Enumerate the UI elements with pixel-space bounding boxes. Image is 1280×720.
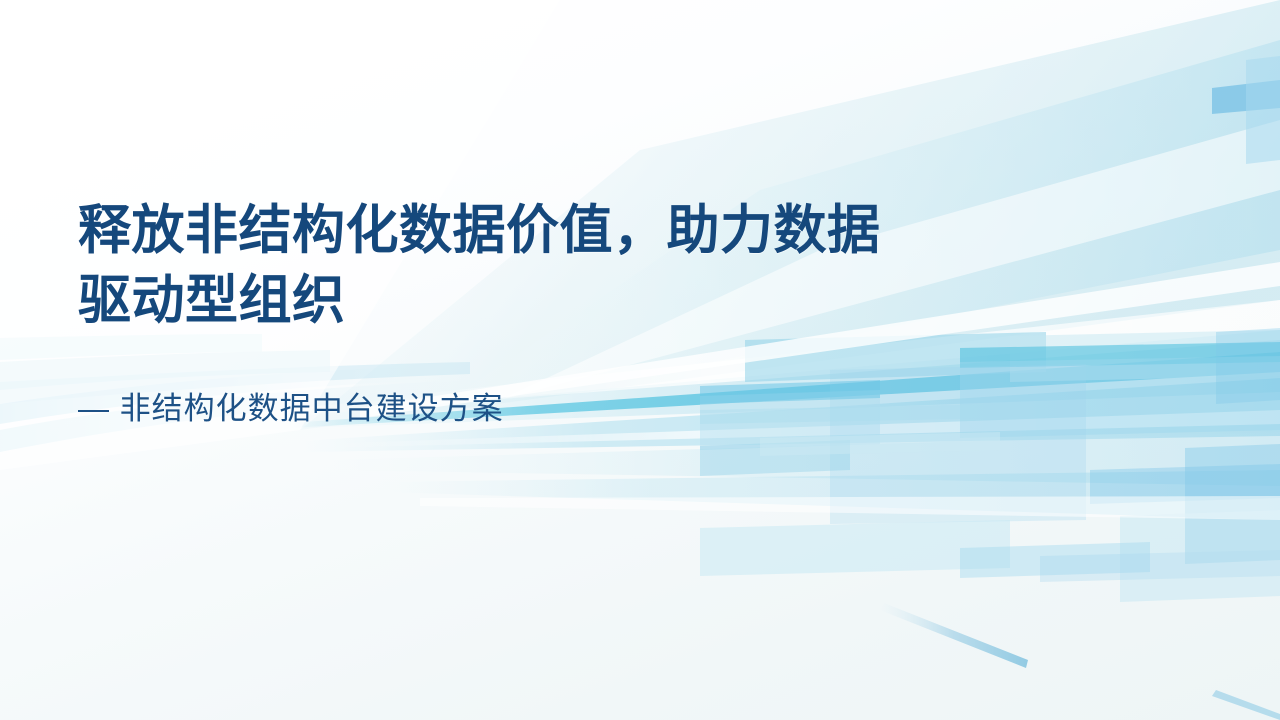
title-text-block: 释放非结构化数据价值，助力数据 驱动型组织 — 非结构化数据中台建设方案 — [78, 196, 918, 429]
title-slide: 释放非结构化数据价值，助力数据 驱动型组织 — 非结构化数据中台建设方案 — [0, 0, 1280, 720]
slide-subtitle: — 非结构化数据中台建设方案 — [78, 337, 918, 429]
bg-diagonal-streak — [880, 603, 1280, 720]
page-title: 释放非结构化数据价值，助力数据 驱动型组织 — [78, 196, 918, 337]
